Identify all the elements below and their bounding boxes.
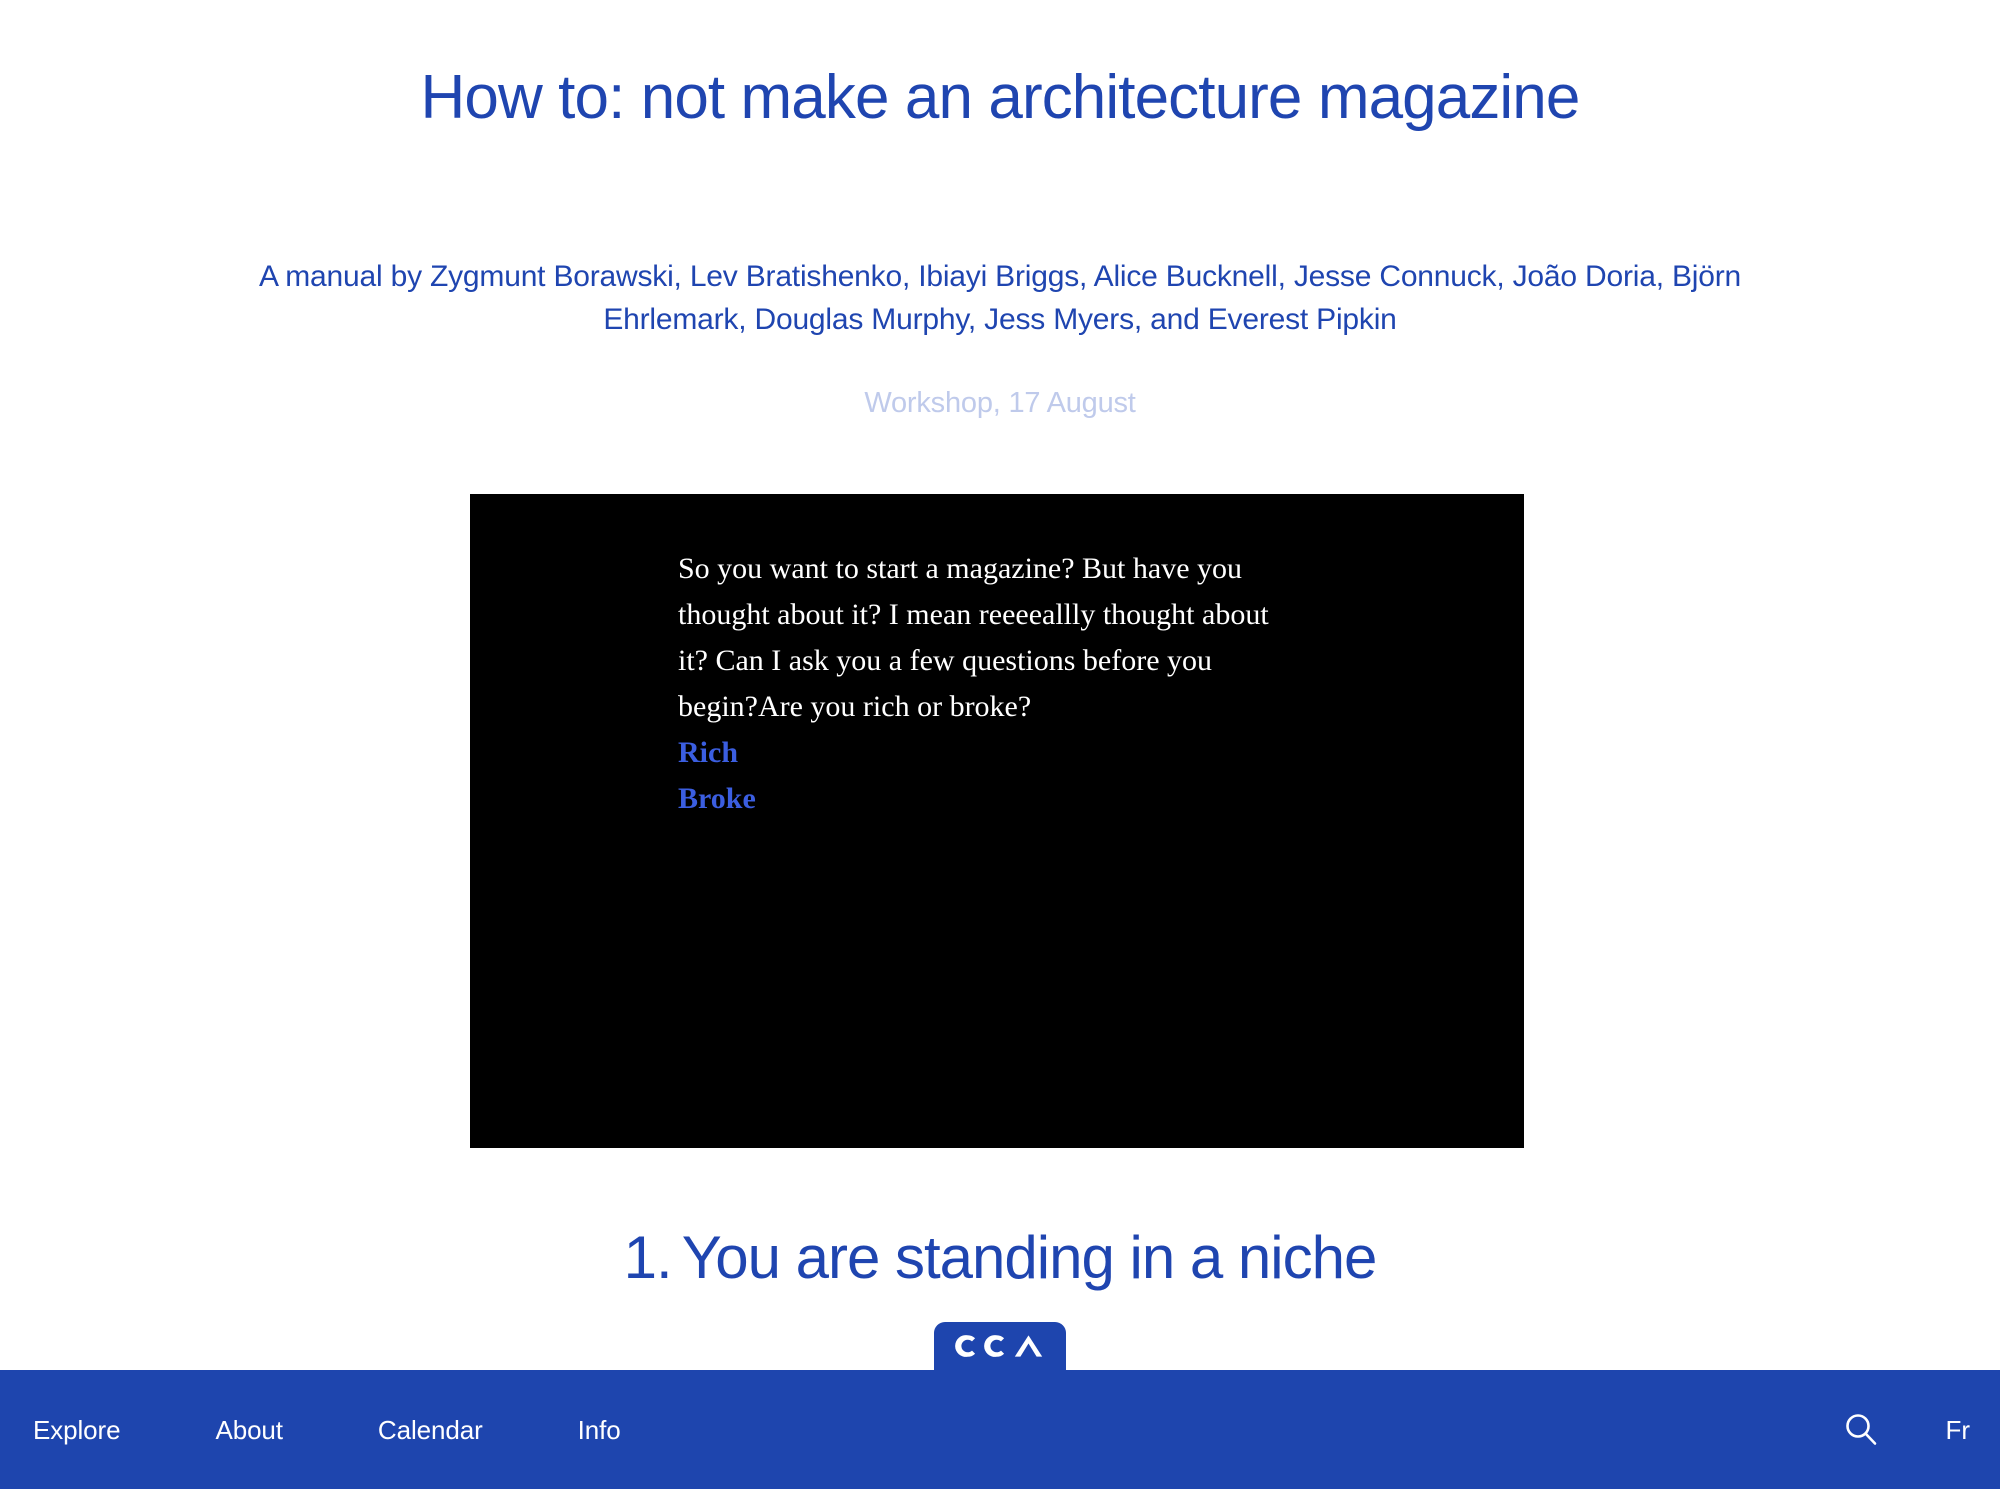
article-page: How to: not make an architecture magazin… <box>0 0 2000 1370</box>
nav-item-about[interactable]: About <box>215 1415 282 1445</box>
nav-item-calendar[interactable]: Calendar <box>378 1415 483 1445</box>
nav-item-info[interactable]: Info <box>578 1415 621 1445</box>
article-authors: A manual by Zygmunt Borawski, Lev Bratis… <box>200 255 1800 341</box>
search-button[interactable] <box>1843 1412 1879 1448</box>
story-choices: Rich Broke <box>678 730 1298 822</box>
cca-logo-icon <box>952 1332 1048 1360</box>
nav-utilities: Fr <box>1843 1412 1970 1448</box>
cca-logo[interactable] <box>934 1322 1066 1370</box>
search-icon <box>1843 1412 1879 1448</box>
story-choice-rich[interactable]: Rich <box>678 730 738 776</box>
nav-item-explore[interactable]: Explore <box>33 1415 120 1445</box>
language-toggle[interactable]: Fr <box>1945 1415 1970 1445</box>
section-number: 1. <box>624 1224 672 1291</box>
bottom-navigation-bar: Explore About Calendar Info Fr <box>0 1370 2000 1489</box>
interactive-story-embed[interactable]: So you want to start a magazine? But hav… <box>470 494 1524 1148</box>
story-content: So you want to start a magazine? But hav… <box>678 546 1298 822</box>
section-title: You are standing in a niche <box>682 1224 1377 1291</box>
story-choice-broke[interactable]: Broke <box>678 776 756 822</box>
page-title: How to: not make an architecture magazin… <box>410 58 1590 138</box>
section-heading: 1.You are standing in a niche <box>300 1222 1700 1294</box>
nav-links: Explore About Calendar Info <box>33 1415 716 1445</box>
story-prose: So you want to start a magazine? But hav… <box>678 546 1298 730</box>
article-meta: Workshop, 17 August <box>400 384 1600 422</box>
